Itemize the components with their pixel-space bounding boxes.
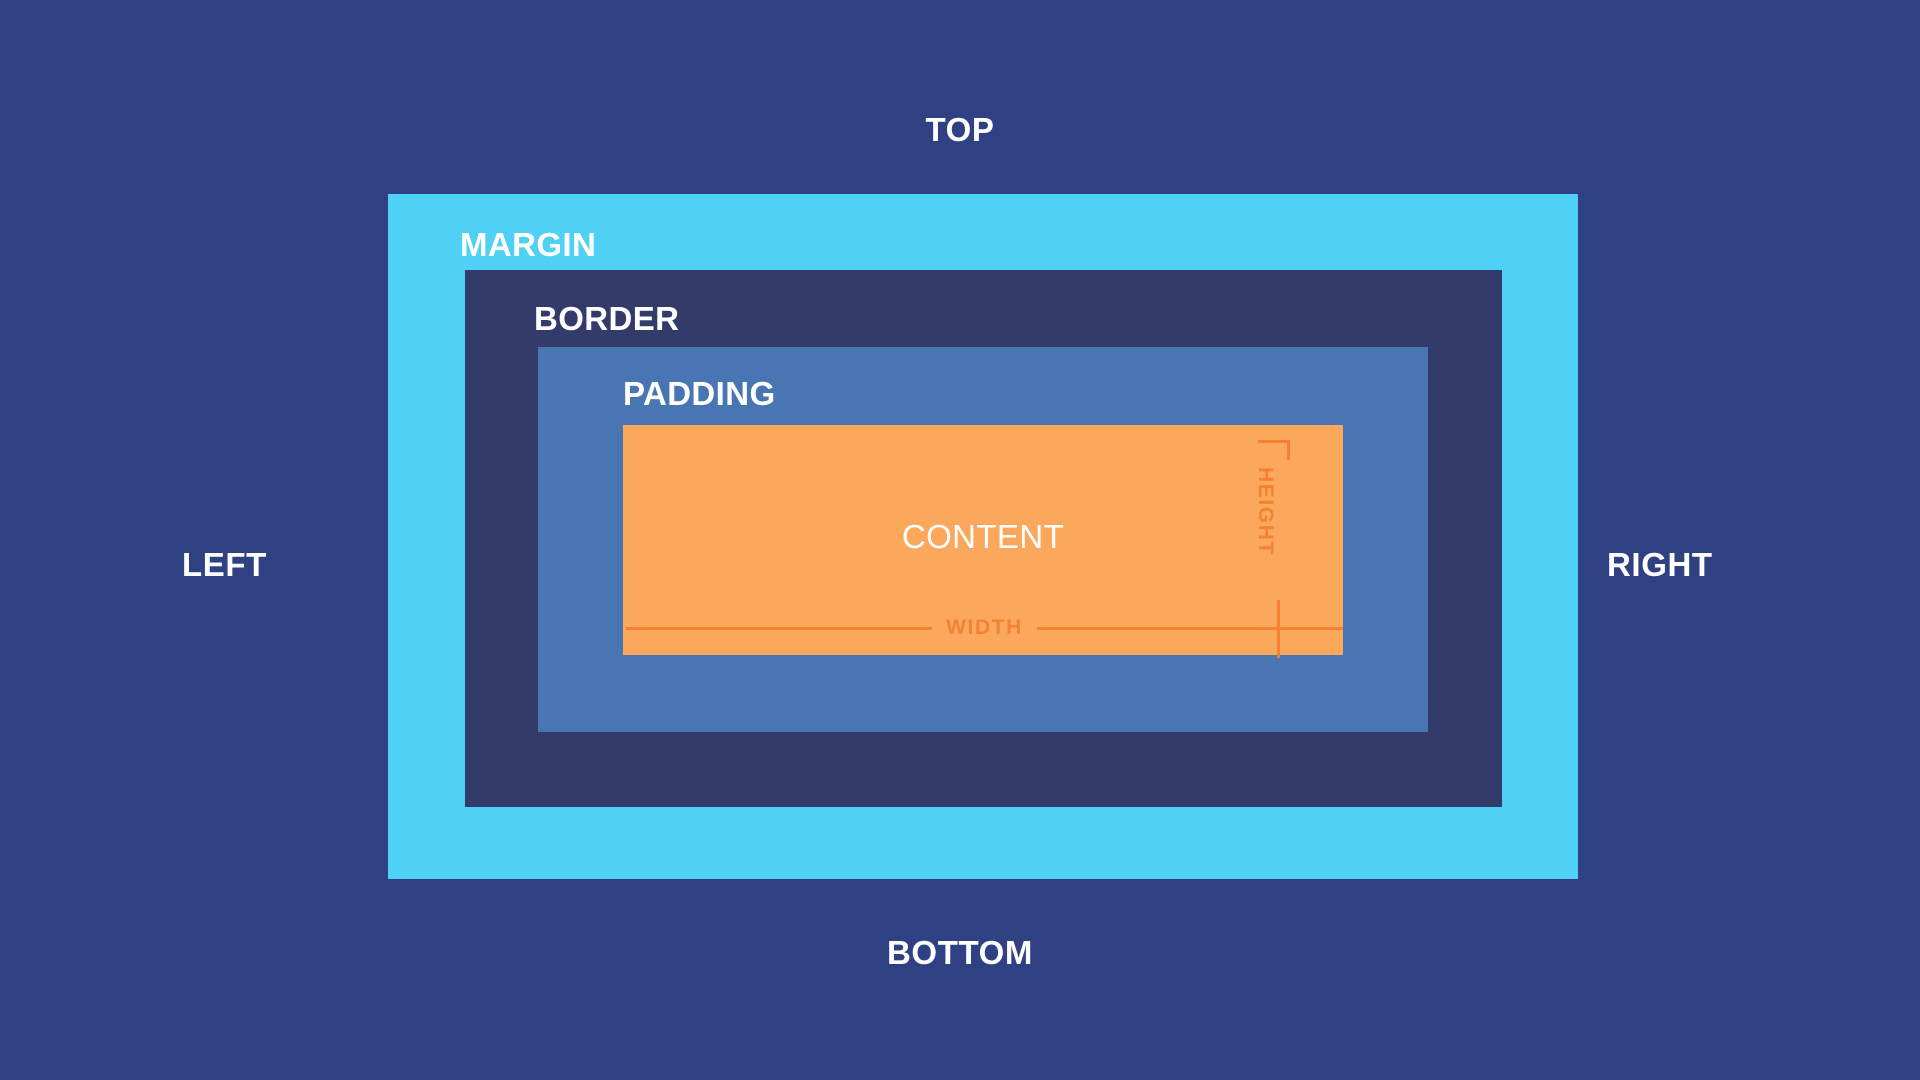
width-label: WIDTH	[932, 616, 1037, 640]
width-rule-left	[626, 627, 932, 630]
padding-box-label: PADDING	[623, 375, 776, 413]
width-end-tick	[1277, 600, 1280, 658]
height-end-tick-vertical	[1287, 440, 1290, 460]
box-model-diagram: TOP LEFT RIGHT BOTTOM MARGIN BORDER PADD…	[0, 0, 1920, 1080]
margin-box-label: MARGIN	[460, 226, 596, 264]
height-end-tick-horizontal	[1258, 440, 1290, 443]
edge-label-left: LEFT	[182, 546, 267, 584]
width-rule-right	[1037, 627, 1343, 630]
content-box-label: CONTENT	[623, 518, 1343, 556]
edge-label-top: TOP	[0, 111, 1920, 149]
height-label: HEIGHT	[1253, 467, 1277, 556]
border-box-label: BORDER	[534, 300, 679, 338]
width-measurement: WIDTH	[623, 612, 1343, 644]
edge-label-right: RIGHT	[1607, 546, 1713, 584]
edge-label-bottom: BOTTOM	[0, 934, 1920, 972]
